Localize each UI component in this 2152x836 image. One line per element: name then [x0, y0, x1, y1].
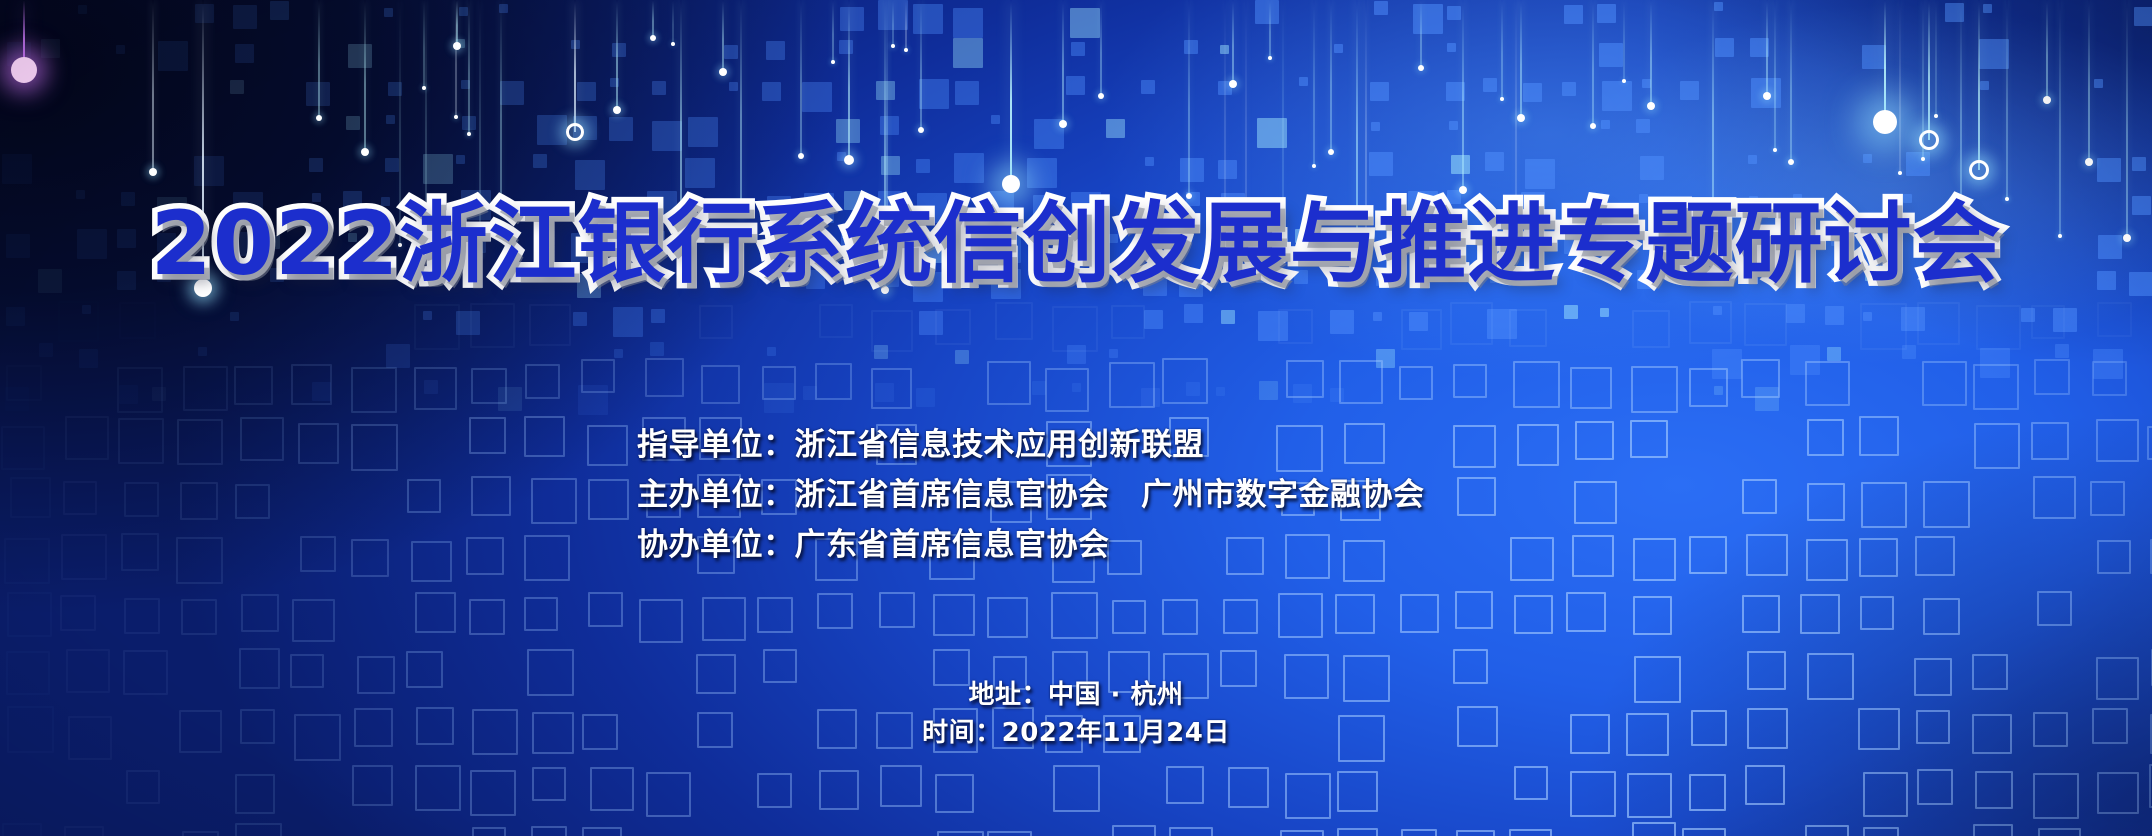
light-line-head [1500, 97, 1504, 101]
organiser-list: 指导单位：浙江省信息技术应用创新联盟 主办单位：浙江省首席信息官协会 广州市数字… [637, 424, 1425, 574]
falling-light-line [1650, 0, 1652, 106]
falling-light-line [1010, 0, 1012, 184]
falling-light-line [680, 0, 682, 224]
falling-light-line [722, 0, 724, 72]
falling-light-line [1922, 0, 1924, 159]
falling-light-line [1232, 0, 1234, 84]
falling-light-line [1790, 0, 1792, 162]
light-line-head [2085, 158, 2093, 166]
falling-light-line [423, 0, 425, 88]
falling-light-line [616, 0, 618, 110]
falling-light-line [1712, 0, 1714, 212]
organiser-line-guidance: 指导单位：浙江省信息技术应用创新联盟 [637, 424, 1425, 466]
falling-light-line [1935, 0, 1937, 116]
light-line-head [454, 115, 458, 119]
falling-light-line [1100, 0, 1102, 96]
light-line-head [650, 35, 656, 41]
falling-light-line [920, 0, 922, 130]
falling-light-line [2046, 0, 2048, 100]
light-line-head [831, 60, 835, 64]
falling-light-line [500, 0, 502, 210]
falling-light-line [892, 0, 894, 46]
falling-light-line [1960, 0, 1962, 214]
light-line-head [1773, 148, 1777, 152]
light-line-head [613, 106, 621, 114]
light-line-head [1590, 123, 1596, 129]
light-line-head [1002, 175, 1020, 193]
light-line-head [316, 115, 322, 121]
light-line-head [844, 155, 854, 165]
light-line-head [1898, 171, 1902, 175]
falling-light-line [848, 0, 850, 160]
falling-light-line [1313, 0, 1315, 166]
falling-light-line [23, 0, 25, 70]
falling-light-line [1420, 0, 1422, 68]
falling-light-line [152, 0, 154, 172]
light-line-head [1268, 56, 1272, 60]
light-line-head [1873, 110, 1897, 134]
venue-details: 地址：中国 · 杭州 时间：2022年11月24日 [0, 676, 2152, 752]
light-line-head [1647, 102, 1655, 110]
event-banner: 2022浙江银行系统信创发展与推进专题研讨会 指导单位：浙江省信息技术应用创新联… [0, 0, 2152, 836]
light-line-head [1059, 120, 1067, 128]
falling-light-line [905, 0, 907, 50]
light-line-head [1098, 93, 1104, 99]
falling-light-line [1899, 0, 1901, 173]
falling-light-line [1623, 0, 1625, 81]
light-line-head [1921, 157, 1925, 161]
falling-light-line [1188, 0, 1190, 196]
falling-light-line [1462, 0, 1464, 190]
light-line-head [422, 86, 426, 90]
page-title: 2022浙江银行系统信创发展与推进专题研讨会 [151, 196, 2002, 291]
falling-light-line [1501, 0, 1503, 99]
falling-light-line [455, 0, 457, 117]
falling-light-line [832, 0, 834, 62]
light-line-head [11, 57, 37, 83]
falling-light-line [364, 0, 366, 152]
light-line-head [918, 127, 924, 133]
light-line-head [1312, 164, 1316, 168]
banner-title-container: 2022浙江银行系统信创发展与推进专题研讨会 [0, 196, 2152, 291]
falling-light-line [800, 0, 802, 156]
falling-light-line [1062, 0, 1064, 124]
venue-address-line: 地址：中国 · 杭州 [0, 676, 2152, 714]
light-line-head [1969, 160, 1989, 180]
light-line-head [566, 123, 584, 141]
falling-light-line [1520, 0, 1522, 118]
falling-light-line [1884, 0, 1886, 122]
falling-light-line [652, 0, 654, 38]
light-line-head [467, 132, 471, 136]
light-line-head [1788, 159, 1794, 165]
falling-light-line [2088, 0, 2090, 162]
falling-light-line [1515, 0, 1517, 216]
light-line-head [719, 68, 727, 76]
falling-light-line [672, 0, 674, 44]
light-line-head [1517, 114, 1525, 122]
light-line-head [361, 148, 369, 156]
falling-light-line [318, 0, 320, 118]
venue-date-line: 时间：2022年11月24日 [0, 714, 2152, 752]
falling-light-line [1978, 0, 1980, 170]
light-line-head [1934, 114, 1938, 118]
light-line-head [798, 153, 804, 159]
falling-light-line [2006, 0, 2008, 199]
organiser-line-host: 主办单位：浙江省首席信息官协会 广州市数字金融协会 [637, 474, 1425, 516]
light-line-head [1763, 92, 1771, 100]
falling-light-line [1774, 0, 1776, 150]
falling-light-line [574, 0, 576, 132]
light-line-head [149, 168, 157, 176]
falling-light-line [1282, 0, 1284, 215]
falling-light-line [740, 0, 742, 210]
light-line-head [1328, 149, 1334, 155]
light-line-head [1229, 80, 1237, 88]
organiser-line-co-host: 协办单位：广东省首席信息官协会 [637, 524, 1425, 566]
falling-light-line [1766, 0, 1768, 96]
light-line-head [904, 48, 908, 52]
falling-light-line [1269, 0, 1271, 58]
falling-light-line [1592, 0, 1594, 126]
light-line-head [1622, 79, 1626, 83]
light-line-head [1418, 65, 1424, 71]
falling-light-line [468, 0, 470, 134]
light-line-head [671, 42, 675, 46]
falling-light-line [1224, 0, 1226, 221]
light-line-head [891, 44, 895, 48]
light-line-head [2043, 96, 2051, 104]
falling-light-line [1928, 0, 1930, 140]
falling-light-line [1330, 0, 1332, 152]
